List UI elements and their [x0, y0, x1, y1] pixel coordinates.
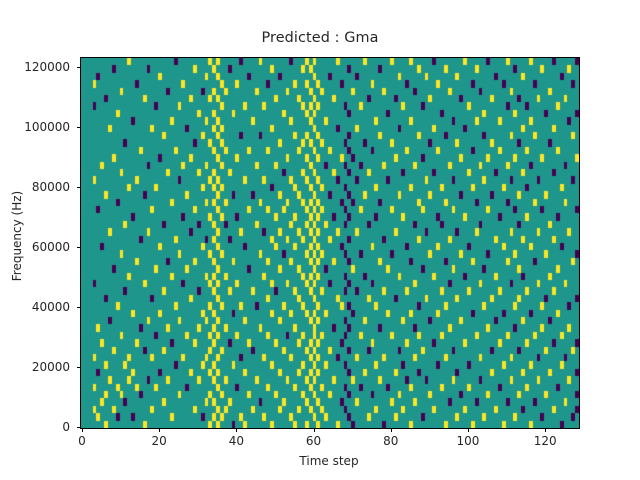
x-tick-label: 80: [361, 434, 421, 448]
y-tick: [77, 427, 81, 428]
y-tick: [77, 247, 81, 248]
y-tick-label: 0: [0, 420, 70, 434]
heatmap-axes: [80, 57, 580, 429]
x-tick: [159, 428, 160, 432]
x-tick: [82, 428, 83, 432]
x-tick: [545, 428, 546, 432]
y-axis-label: Frequency (Hz): [10, 126, 24, 346]
x-tick: [236, 428, 237, 432]
chart-title: Predicted : Gma: [0, 30, 640, 46]
y-tick-label: 120000: [0, 60, 70, 74]
y-tick: [77, 307, 81, 308]
x-tick-label: 40: [206, 434, 266, 448]
x-tick: [468, 428, 469, 432]
heatmap-cells: [81, 58, 579, 428]
x-axis-label: Time step: [80, 454, 578, 468]
x-tick-label: 60: [284, 434, 344, 448]
y-tick-label: 20000: [0, 360, 70, 374]
y-tick: [77, 67, 81, 68]
y-tick: [77, 187, 81, 188]
x-tick-label: 100: [438, 434, 498, 448]
x-tick: [314, 428, 315, 432]
matplotlib-figure: Predicted : Gma 020406080100120 02000040…: [0, 0, 640, 480]
y-tick: [77, 367, 81, 368]
x-tick-label: 0: [52, 434, 112, 448]
x-tick-label: 120: [515, 434, 575, 448]
x-tick: [391, 428, 392, 432]
y-tick: [77, 127, 81, 128]
x-tick-label: 20: [129, 434, 189, 448]
